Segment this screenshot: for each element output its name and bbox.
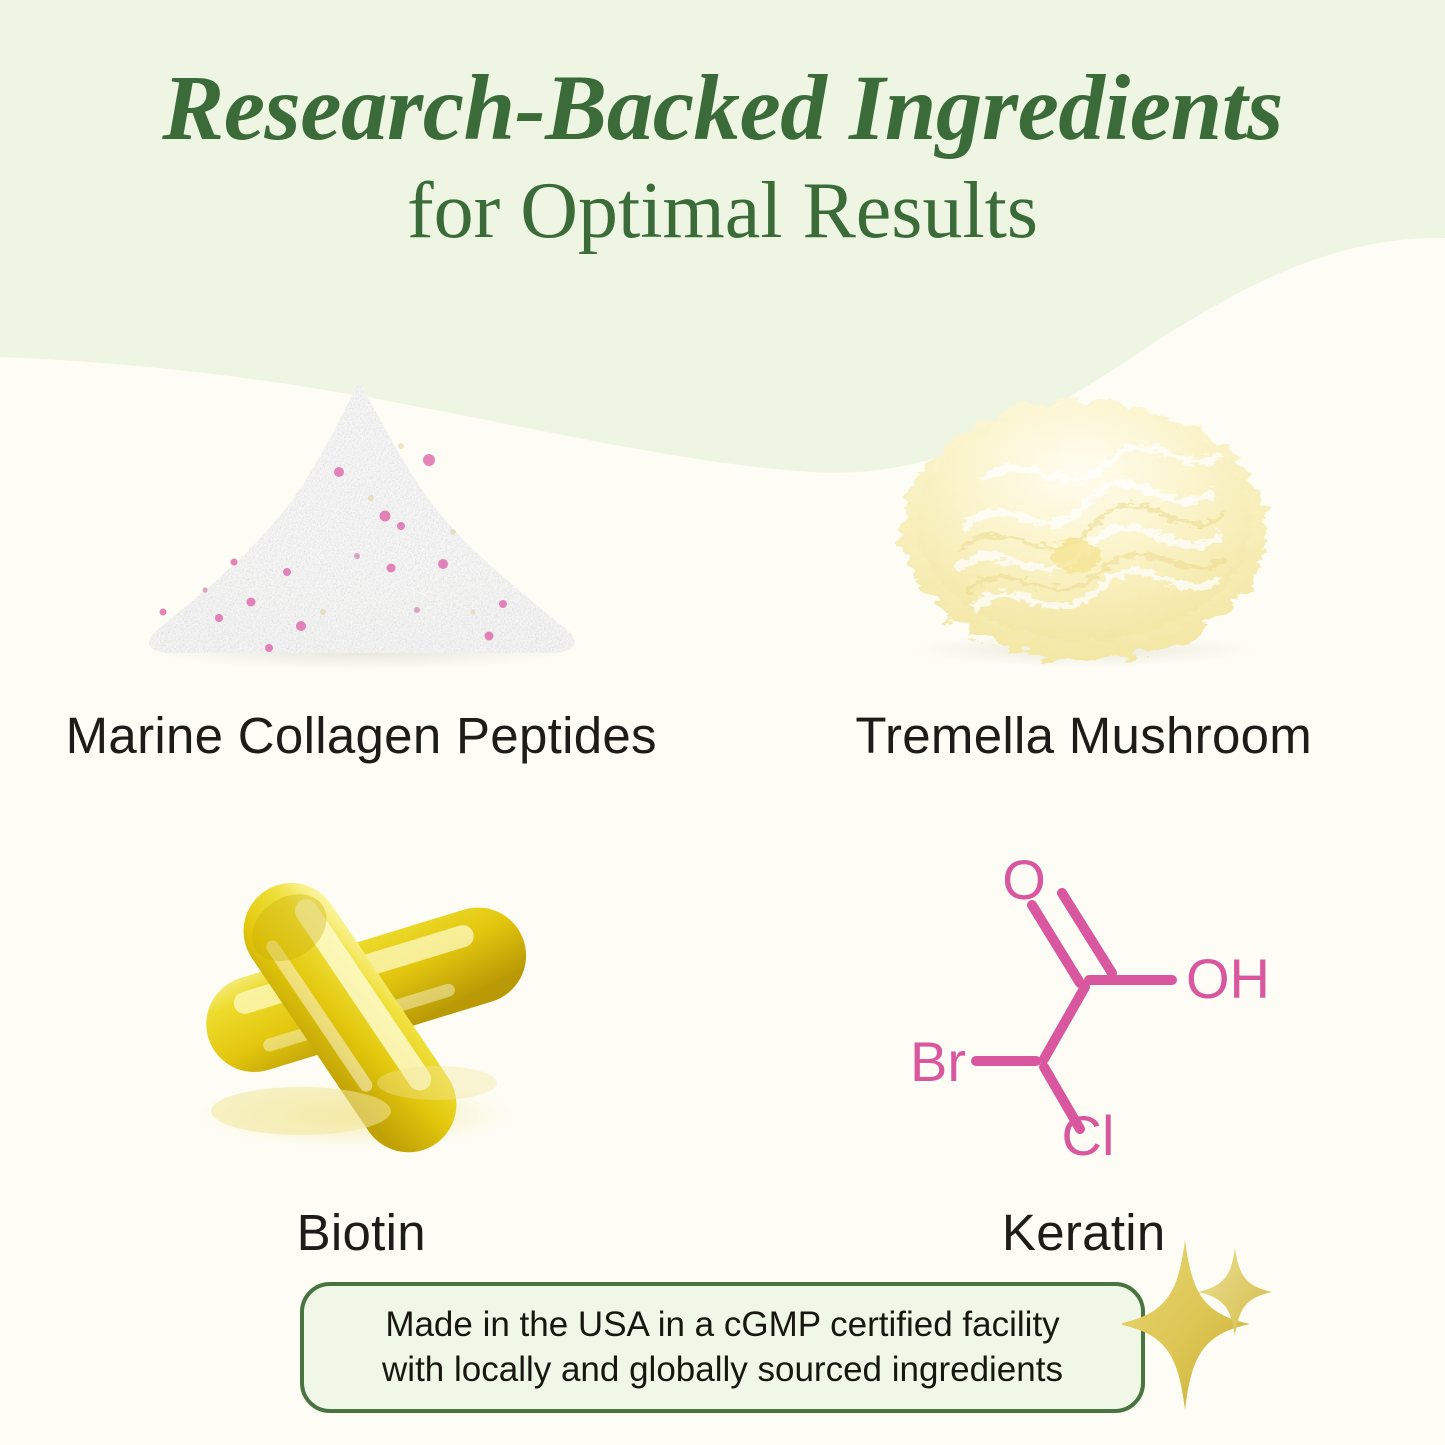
badge-text-line2: with locally and globally sourced ingred… bbox=[382, 1348, 1063, 1393]
ingredient-grid: Marine Collagen Peptides bbox=[0, 350, 1445, 1262]
sparkle-icon bbox=[1122, 1228, 1332, 1443]
ingredient-label-biotin: Biotin bbox=[297, 1203, 426, 1262]
ingredient-card-biotin: Biotin bbox=[0, 843, 723, 1262]
ingredient-card-keratin: O OH Br Cl Keratin bbox=[723, 843, 1445, 1262]
atom-label-OH: OH bbox=[1186, 947, 1270, 1010]
tremella-mushroom-icon bbox=[864, 350, 1304, 670]
keratin-art: O OH Br Cl bbox=[723, 843, 1445, 1163]
sparkle-large bbox=[1122, 1240, 1250, 1410]
collagen-art bbox=[0, 350, 723, 670]
ingredient-card-tremella: Tremella Mushroom bbox=[723, 350, 1445, 765]
tremella-art bbox=[723, 350, 1445, 670]
badge-zone: Made in the USA in a cGMP certified faci… bbox=[0, 1268, 1445, 1428]
ingredient-row-2: Biotin bbox=[0, 843, 1445, 1262]
chemical-structure-icon: O OH Br Cl bbox=[884, 843, 1284, 1163]
atom-label-Br: Br bbox=[910, 1030, 966, 1093]
ingredient-label-collagen: Marine Collagen Peptides bbox=[66, 706, 657, 765]
ingredient-card-collagen: Marine Collagen Peptides bbox=[0, 350, 723, 765]
header: Research-Backed Ingredients for Optimal … bbox=[0, 0, 1445, 253]
ingredient-row-1: Marine Collagen Peptides bbox=[0, 350, 1445, 765]
softgel-capsules-icon bbox=[141, 843, 581, 1163]
page-title-line1: Research-Backed Ingredients bbox=[0, 62, 1445, 155]
page-title-line2: for Optimal Results bbox=[0, 169, 1445, 253]
certification-badge: Made in the USA in a cGMP certified faci… bbox=[300, 1282, 1145, 1413]
biotin-art bbox=[0, 843, 723, 1163]
ingredient-label-tremella: Tremella Mushroom bbox=[855, 706, 1312, 765]
atom-label-Cl: Cl bbox=[1061, 1104, 1114, 1163]
atom-label-O: O bbox=[1002, 848, 1046, 911]
badge-text-line1: Made in the USA in a cGMP certified faci… bbox=[385, 1303, 1059, 1348]
collagen-powder-pile-icon bbox=[101, 350, 621, 670]
